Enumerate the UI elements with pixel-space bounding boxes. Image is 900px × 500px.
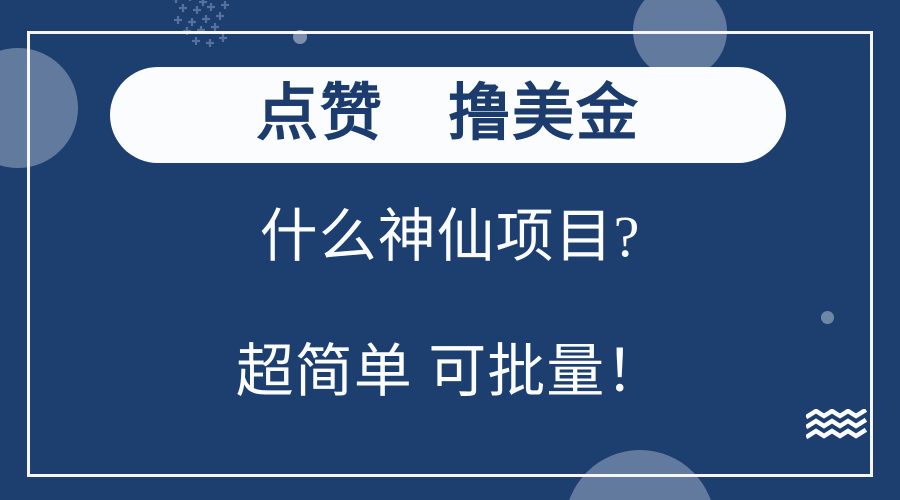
pill-banner-label: 点赞 撸美金 bbox=[256, 82, 640, 144]
poster-headline: 什么神仙项目? bbox=[0, 208, 900, 266]
poster-subline: 超简单 可批量！ bbox=[0, 343, 900, 401]
poster-content: 点赞 撸美金 什么神仙项目? 超简单 可批量！ bbox=[0, 0, 900, 500]
headline-pill-banner: 点赞 撸美金 bbox=[110, 67, 786, 163]
promo-poster: 点赞 撸美金 什么神仙项目? 超简单 可批量！ bbox=[0, 0, 900, 500]
